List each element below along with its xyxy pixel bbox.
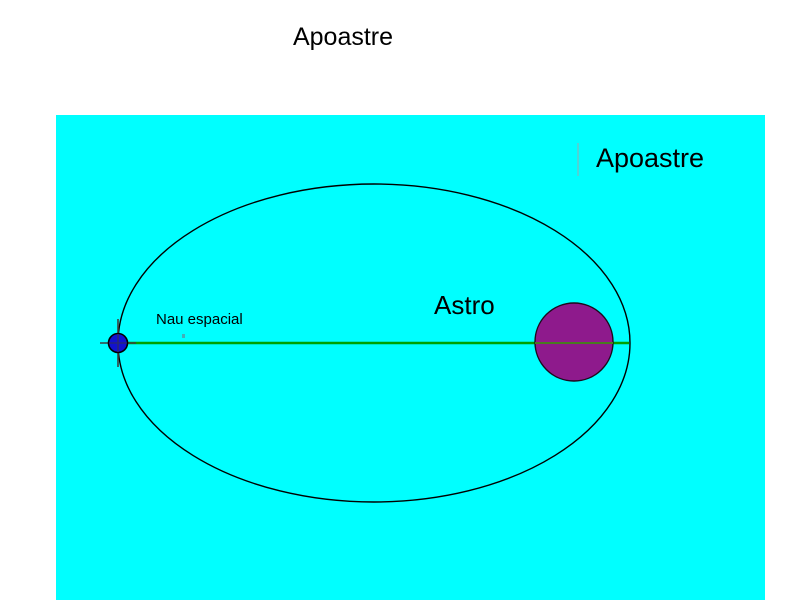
spacecraft-label-tick-icon — [182, 334, 185, 338]
apoastre-callout-label: Apoastre — [596, 145, 704, 172]
astro-label: Astro — [434, 292, 495, 318]
diagram-canvas: Apoastre Astro Nau espacial — [56, 115, 765, 600]
spacecraft-label: Nau espacial — [156, 312, 243, 327]
orbit-diagram-svg — [56, 115, 765, 600]
page-title: Apoastre — [0, 22, 743, 52]
slide-canvas: Apoastre Apoastre Astro Nau espacial — [0, 0, 800, 600]
text-caret-icon — [577, 143, 579, 176]
